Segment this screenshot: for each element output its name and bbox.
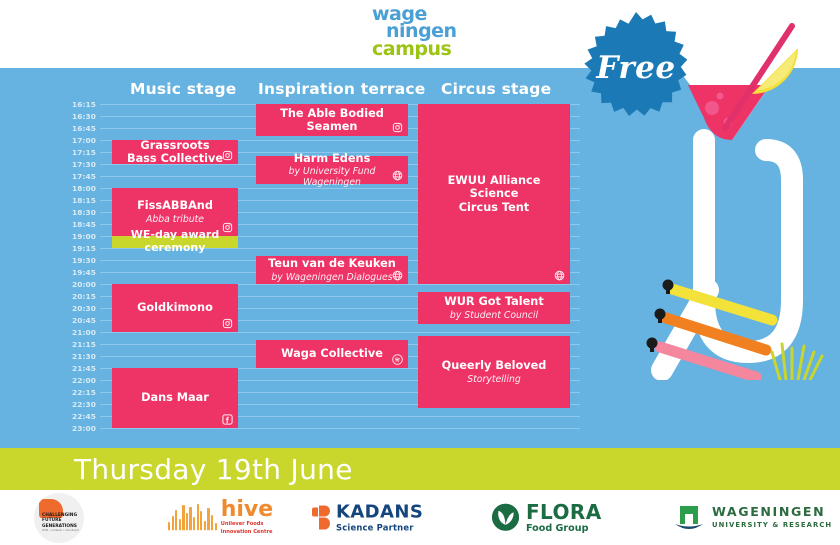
time-label: 20:30 xyxy=(60,304,96,313)
kadans-mark-icon xyxy=(312,505,330,529)
schedule-event-block[interactable]: Teun van de Keukenby Wageningen Dialogue… xyxy=(256,256,408,284)
time-label: 22:15 xyxy=(60,388,96,397)
time-label: 21:00 xyxy=(60,328,96,337)
logo-line-3: campus xyxy=(372,41,492,58)
date-banner-text: Thursday 19th June xyxy=(0,453,353,486)
time-label: 19:15 xyxy=(60,244,96,253)
schedule-event-block[interactable]: Waga Collective xyxy=(256,340,408,368)
kadans-sub: Science Partner xyxy=(336,522,423,532)
wur-wordmark: WAGENINGEN xyxy=(712,506,832,519)
column-header-music-stage: Music stage xyxy=(130,80,237,98)
event-title: GrassrootsBass Collective xyxy=(127,139,223,166)
time-label: 18:15 xyxy=(60,196,96,205)
sponsor-strip: CHALLENGING FUTURE GENERATIONS WUR • Uni… xyxy=(0,490,840,545)
time-label: 20:00 xyxy=(60,280,96,289)
cfg-sub: WUR • Unilever • Den Bosch xyxy=(42,529,82,532)
event-title: Teun van de Keuken xyxy=(268,257,396,270)
sponsor-logo-hive: hive Unilever Foods Innovation Centre xyxy=(168,500,273,536)
event-subtitle: Abba tribute xyxy=(146,214,204,225)
time-label: 16:15 xyxy=(60,100,96,109)
instagram-icon[interactable] xyxy=(222,318,233,329)
time-label: 18:45 xyxy=(60,220,96,229)
time-label: 19:30 xyxy=(60,256,96,265)
time-label: 17:15 xyxy=(60,148,96,157)
globe-icon[interactable] xyxy=(554,270,565,281)
event-title: EWUU Alliance ScienceCircus Tent xyxy=(424,174,564,214)
time-label: 22:30 xyxy=(60,400,96,409)
time-label: 18:30 xyxy=(60,208,96,217)
schedule-event-block[interactable]: WE-day award ceremony xyxy=(112,236,238,248)
schedule-grid: Music stage Inspiration terrace Circus s… xyxy=(0,68,600,448)
schedule-event-block[interactable]: WUR Got Talentby Student Council xyxy=(418,292,570,324)
globe-icon[interactable] xyxy=(392,170,403,181)
kadans-wordmark: KADANS xyxy=(336,503,423,521)
time-label: 22:45 xyxy=(60,412,96,421)
grid-line xyxy=(100,428,580,429)
time-label: 18:00 xyxy=(60,184,96,193)
time-label: 20:45 xyxy=(60,316,96,325)
time-label: 19:00 xyxy=(60,232,96,241)
hive-bars-icon xyxy=(168,504,217,530)
spotify-icon[interactable] xyxy=(392,354,403,365)
event-title: WUR Got Talent xyxy=(444,295,543,308)
time-label: 22:00 xyxy=(60,376,96,385)
sponsor-logo-challenging-future-generations: CHALLENGING FUTURE GENERATIONS WUR • Uni… xyxy=(34,493,84,543)
wur-mark-icon xyxy=(674,504,704,532)
time-label: 23:00 xyxy=(60,424,96,433)
sponsor-logo-kadans: KADANS Science Partner xyxy=(312,503,423,532)
date-banner: Thursday 19th June xyxy=(0,448,840,490)
sponsor-logo-flora-food-group: FLORA Food Group xyxy=(492,501,602,534)
hive-wordmark: hive xyxy=(221,500,273,521)
schedule-event-block[interactable]: GrassrootsBass Collective xyxy=(112,140,238,164)
column-header-inspiration-terrace: Inspiration terrace xyxy=(258,80,426,98)
free-badge-label: Free xyxy=(578,10,694,126)
cfg-line-1: CHALLENGING xyxy=(42,513,82,519)
event-title: Queerly Beloved xyxy=(442,359,547,372)
event-title: WE-day award ceremony xyxy=(118,229,232,255)
time-label: 19:45 xyxy=(60,268,96,277)
event-subtitle: by Wageningen Dialogues xyxy=(271,272,392,283)
schedule-event-block[interactable]: Queerly BelovedStorytelling xyxy=(418,336,570,408)
flora-leaf-icon xyxy=(492,504,519,531)
schedule-event-block[interactable]: Goldkimono xyxy=(112,284,238,332)
instagram-icon[interactable] xyxy=(222,150,233,161)
free-badge: Free xyxy=(578,10,694,126)
globe-icon[interactable] xyxy=(392,270,403,281)
event-title: Dans Maar xyxy=(141,391,209,404)
instagram-icon[interactable] xyxy=(392,122,403,133)
schedule-event-block[interactable]: Dans Maar xyxy=(112,368,238,428)
schedule-event-block[interactable]: The Able Bodied Seamen xyxy=(256,104,408,136)
time-label: 21:15 xyxy=(60,340,96,349)
facebook-icon[interactable] xyxy=(222,414,233,425)
event-title: FissABBAnd xyxy=(137,199,213,212)
time-label: 20:15 xyxy=(60,292,96,301)
schedule-event-block[interactable]: Harm Edensby University Fund Wageningen xyxy=(256,156,408,184)
time-label: 16:30 xyxy=(60,112,96,121)
schedule-event-block[interactable]: EWUU Alliance ScienceCircus Tent xyxy=(418,104,570,284)
wur-sub: UNIVERSITY & RESEARCH xyxy=(712,521,832,529)
time-label: 16:45 xyxy=(60,124,96,133)
grid-line xyxy=(100,332,580,333)
event-subtitle: by University Fund Wageningen xyxy=(262,166,402,188)
event-title: Harm Edens xyxy=(294,152,371,165)
event-title: The Able Bodied Seamen xyxy=(262,107,402,134)
flora-wordmark: FLORA xyxy=(526,501,602,521)
event-title: Goldkimono xyxy=(137,301,213,314)
column-header-circus-stage: Circus stage xyxy=(441,80,551,98)
event-title: Waga Collective xyxy=(281,347,383,360)
time-label: 17:45 xyxy=(60,172,96,181)
event-subtitle: Storytelling xyxy=(467,374,520,385)
time-label: 17:30 xyxy=(60,160,96,169)
event-subtitle: by Student Council xyxy=(450,310,538,321)
sponsor-logo-wageningen-university-research: WAGENINGEN UNIVERSITY & RESEARCH xyxy=(674,504,832,532)
wageningen-campus-logo: wage ningen campus xyxy=(372,6,492,58)
hive-sub-1: Unilever Foods xyxy=(221,522,273,528)
time-label: 17:00 xyxy=(60,136,96,145)
flora-sub: Food Group xyxy=(526,522,602,534)
time-label: 21:45 xyxy=(60,364,96,373)
time-label: 21:30 xyxy=(60,352,96,361)
grid-area: 16:1516:3016:4517:0017:1517:3017:4518:00… xyxy=(60,104,580,440)
hive-sub-2: Innovation Centre xyxy=(221,529,273,535)
